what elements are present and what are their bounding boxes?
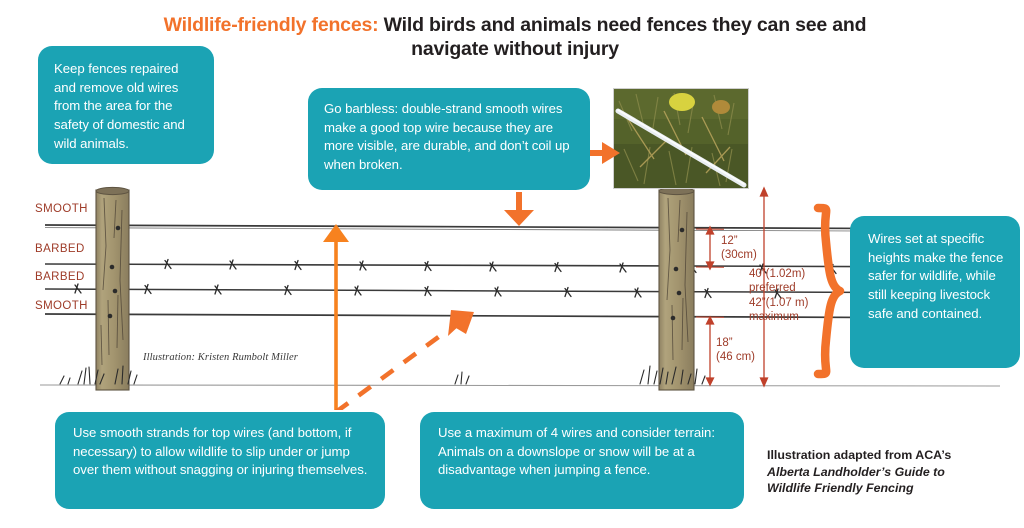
attribution-line-3: Wildlife Friendly Fencing [767,480,1002,497]
callout-keep-fences-repaired: Keep fences repaired and remove old wire… [38,46,214,164]
page-title: Wildlife-friendly fences: Wild birds and… [160,14,870,62]
title-rest: Wild birds and animals need fences they … [378,14,866,60]
measurement-bottom-gap-inches: 18” [716,336,755,350]
grass-tufts [60,366,705,384]
measurement-top-gap-inches: 12” [721,234,757,248]
measurement-preferred-inches: 40”(1.02m) [749,267,808,281]
attribution: Illustration adapted from ACA’s Alberta … [767,447,1002,497]
smooth-wire-photo [613,88,749,189]
callout-maximum-wires: Use a maximum of 4 wires and consider te… [420,412,744,509]
callout-go-barbless: Go barbless: double-strand smooth wires … [308,88,590,190]
measurement-top-gap: 12” (30cm) [721,234,757,263]
measurement-bottom-gap: 18” (46 cm) [716,336,755,365]
wire-label-smooth-top: SMOOTH [35,203,88,215]
attribution-line-2: Alberta Landholder’s Guide to [767,464,1002,481]
title-highlight: Wildlife-friendly fences: [164,14,379,36]
measurement-total-height: 40”(1.02m) preferred 42”(1.07 m) maximum [749,267,808,325]
wire-label-barbed-2: BARBED [35,271,85,283]
infographic-canvas: Wildlife-friendly fences: Wild birds and… [0,0,1024,528]
measurement-maximum-note: maximum [749,310,808,324]
wire-label-smooth-bottom: SMOOTH [35,300,88,312]
fence-post-right [659,187,694,390]
measure-arrow-12in [696,227,724,269]
measurement-maximum-inches: 42”(1.07 m) [749,296,808,310]
dashed-arrow-icon [336,310,474,410]
callout-smooth-strands: Use smooth strands for top wires (and bo… [55,412,385,509]
attribution-line-1: Illustration adapted from ACA’s [767,447,1002,464]
callout-wire-heights: Wires set at specific heights make the f… [850,216,1020,368]
measurement-top-gap-cm: (30cm) [721,248,757,262]
measurement-preferred-note: preferred [749,281,808,295]
wire-label-barbed-1: BARBED [35,243,85,255]
ground-line [40,385,1000,386]
up-arrow-icon [323,224,349,410]
illustrator-credit: Illustration: Kristen Rumbolt Miller [143,352,298,363]
curly-brace-icon [818,208,840,374]
measurement-bottom-gap-cm: (46 cm) [716,350,755,364]
fence-post-left [96,187,129,390]
down-arrow-icon [504,192,534,226]
